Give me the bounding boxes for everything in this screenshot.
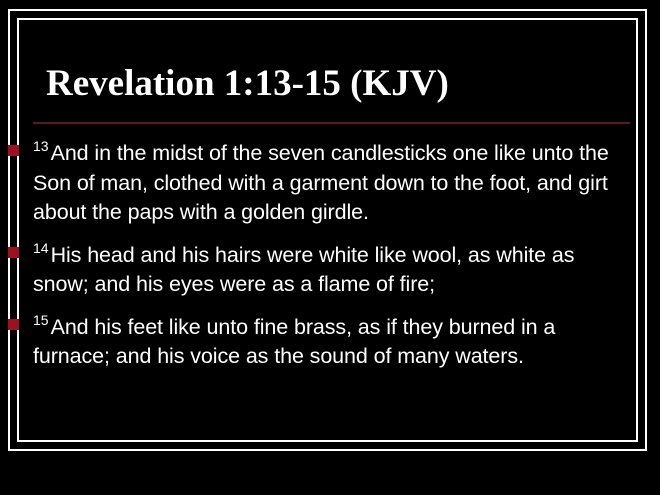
- slide-title: Revelation 1:13-15 (KJV): [46, 62, 616, 106]
- verse-number: 13: [33, 138, 51, 154]
- verse-paragraph: 14His head and his hairs were white like…: [0, 234, 660, 300]
- verse-text: And his feet like unto fine brass, as if…: [33, 315, 555, 369]
- verse-number: 14: [33, 240, 51, 256]
- square-bullet-icon: [8, 145, 19, 156]
- verse-paragraph: 13And in the midst of the seven candlest…: [0, 132, 660, 228]
- verse-text: And in the midst of the seven candlestic…: [33, 141, 609, 224]
- verse-text: His head and his hairs were white like w…: [33, 243, 574, 297]
- title-divider-rule: [33, 122, 630, 124]
- square-bullet-icon: [8, 247, 19, 258]
- verse-paragraph: 15And his feet like unto fine brass, as …: [0, 306, 660, 372]
- presentation-slide: Revelation 1:13-15 (KJV) 13And in the mi…: [0, 0, 660, 495]
- verse-number: 15: [33, 312, 51, 328]
- slide-body: 13And in the midst of the seven candlest…: [0, 132, 660, 378]
- square-bullet-icon: [8, 319, 19, 330]
